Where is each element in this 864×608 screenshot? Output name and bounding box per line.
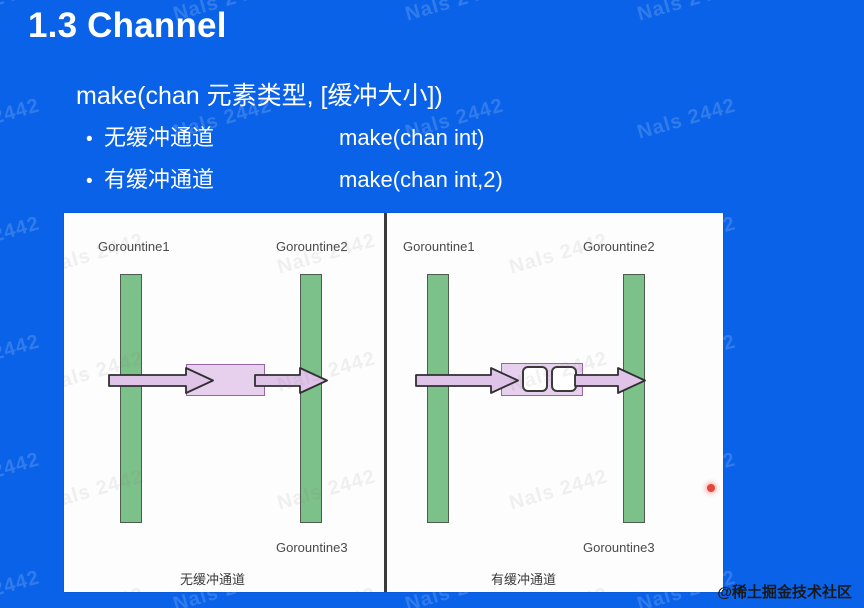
receive-arrow-icon bbox=[254, 367, 328, 394]
gorountine2-label: Gorountine2 bbox=[583, 239, 655, 254]
bullet-marker-icon: • bbox=[86, 130, 104, 149]
panel-divider bbox=[384, 213, 387, 592]
gorountine1-bar bbox=[427, 274, 449, 523]
watermark-tile: Nals 2442 bbox=[403, 0, 507, 27]
watermark-tile: Nals 2442 bbox=[0, 212, 43, 262]
unbuffered-caption: 无缓冲通道 bbox=[180, 569, 245, 588]
gorountine1-label: Gorountine1 bbox=[98, 239, 170, 254]
page-title: 1.3 Channel bbox=[28, 6, 227, 46]
bullet-marker-icon: • bbox=[86, 172, 104, 191]
figure-panel: Nals 2442Nals 2442Nals 2442Nals 2442Nals… bbox=[64, 213, 723, 592]
list-item: • 有缓冲通道 make(chan int,2) bbox=[86, 162, 503, 204]
buffer-cell bbox=[522, 366, 548, 392]
send-arrow-icon bbox=[415, 367, 519, 394]
list-item: • 无缓冲通道 make(chan int) bbox=[86, 120, 503, 162]
gorountine1-label: Gorountine1 bbox=[403, 239, 475, 254]
buffered-diagram: Gorountine1 Gorountine2 Gorountine3 有缓冲通… bbox=[387, 213, 723, 592]
channel-signature: make(chan 元素类型, [缓冲大小]) bbox=[76, 76, 443, 112]
gorountine2-label: Gorountine2 bbox=[276, 239, 348, 254]
bullet-code: make(chan int) bbox=[339, 125, 485, 151]
bullet-code: make(chan int,2) bbox=[339, 167, 503, 193]
buffered-caption: 有缓冲通道 bbox=[491, 569, 556, 588]
bullet-label: 有缓冲通道 bbox=[104, 162, 339, 194]
watermark-tile: Nals 2442 bbox=[0, 566, 43, 608]
watermark-tile: Nals 2442 bbox=[0, 448, 43, 498]
bullet-label: 无缓冲通道 bbox=[104, 120, 339, 152]
watermark-tile: Nals 2442 bbox=[0, 94, 43, 144]
gorountine2-bar bbox=[300, 274, 322, 523]
receive-arrow-icon bbox=[574, 367, 646, 394]
gorountine1-bar bbox=[120, 274, 142, 523]
gorountine3-label: Gorountine3 bbox=[583, 540, 655, 555]
community-credit: @稀土掘金技术社区 bbox=[717, 581, 852, 602]
slide-canvas: Nals 2442Nals 2442Nals 2442Nals 2442Nals… bbox=[0, 0, 864, 608]
gorountine2-bar bbox=[623, 274, 645, 523]
bullet-list: • 无缓冲通道 make(chan int) • 有缓冲通道 make(chan… bbox=[86, 120, 503, 204]
watermark-tile: Nals 2442 bbox=[0, 330, 43, 380]
watermark-tile: Nals 2442 bbox=[635, 0, 739, 27]
unbuffered-diagram: Gorountine1 Gorountine2 Gorountine3 无缓冲通… bbox=[64, 213, 384, 592]
gorountine3-label: Gorountine3 bbox=[276, 540, 348, 555]
watermark-tile: Nals 2442 bbox=[635, 94, 739, 144]
cursor-dot-icon bbox=[707, 484, 715, 492]
send-arrow-icon bbox=[108, 367, 214, 394]
